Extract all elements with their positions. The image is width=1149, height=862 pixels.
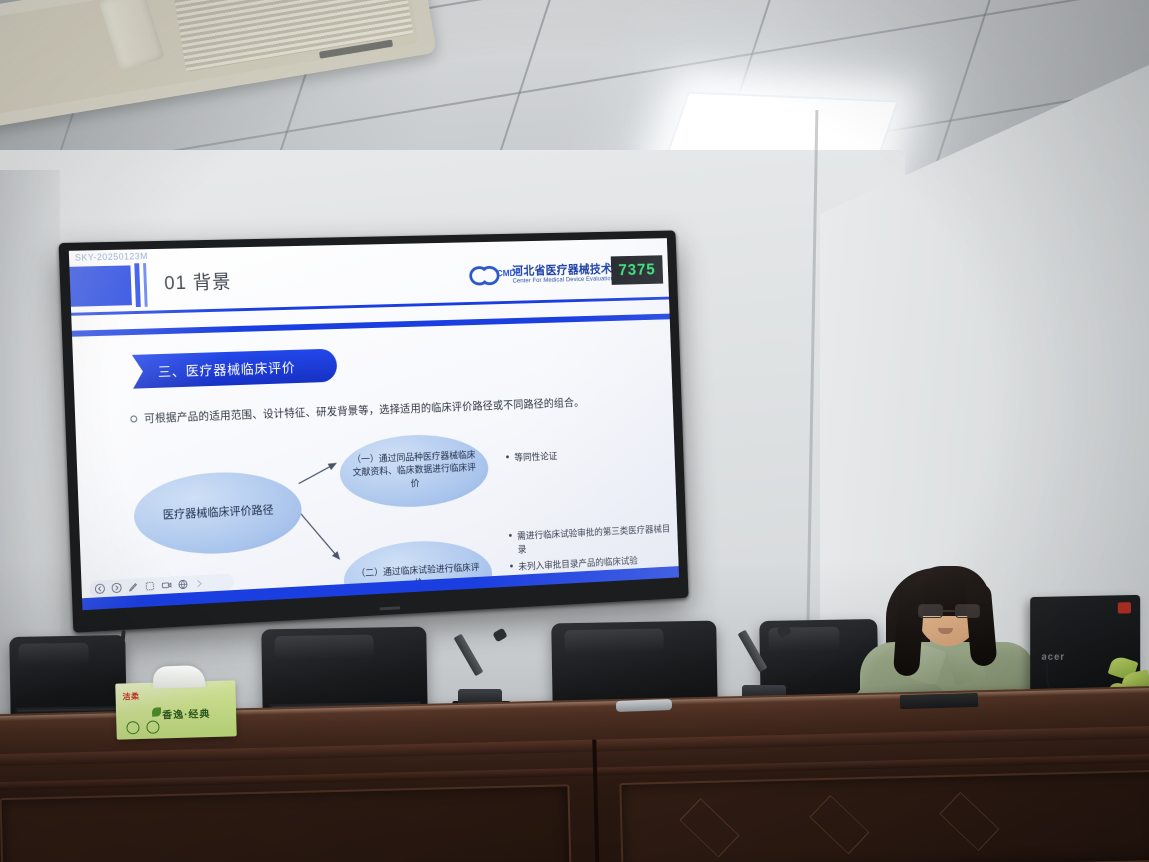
tv-bezel: SKY-20250123M 01 背景 CMDE 河北省医疗器械技术审评中心 bbox=[59, 230, 689, 632]
zoom-slide-icon[interactable] bbox=[161, 580, 172, 591]
previous-slide-icon[interactable] bbox=[94, 583, 105, 595]
section-banner-label: 三、医疗器械临床评价 bbox=[157, 357, 295, 381]
diagram-node-path2: （二）通过临床试验进行临床评价 bbox=[343, 538, 494, 610]
eyeglasses-icon bbox=[918, 604, 980, 620]
tissue-sheet bbox=[153, 665, 206, 688]
tv-screen[interactable]: SKY-20250123M 01 背景 CMDE 河北省医疗器械技术审评中心 bbox=[69, 238, 679, 610]
remote-control[interactable] bbox=[616, 699, 672, 712]
all-slides-icon[interactable] bbox=[177, 579, 188, 590]
powerpoint-slide[interactable]: SKY-20250123M 01 背景 CMDE 河北省医疗器械技术审评中心 bbox=[69, 238, 679, 610]
more-options-icon[interactable] bbox=[194, 578, 205, 589]
header-rule-thin bbox=[71, 297, 669, 316]
pen-icon[interactable] bbox=[128, 581, 139, 592]
tissue-box[interactable]: 洁柔 香逸·经典 bbox=[115, 680, 237, 739]
slide-header-title: 01 背景 bbox=[164, 267, 232, 295]
note-bullet-icon bbox=[506, 455, 509, 458]
overlay-counter-value: 7375 bbox=[618, 260, 656, 280]
slide-watermark: SKY-20250123M bbox=[75, 251, 148, 263]
tissue-product-label: 香逸·经典 bbox=[162, 705, 211, 721]
main-bullet: 可根据产品的适用范围、设计特征、研发背景等，选择适用的临床评价路径或不同路径的组… bbox=[130, 393, 638, 428]
header-blue-block bbox=[69, 265, 132, 306]
diagram-node-path1: （一）通过同品种医疗器械临床文献资料、临床数据进行临床评价 bbox=[339, 432, 490, 510]
chair[interactable] bbox=[9, 635, 126, 723]
tissue-brand-label: 洁柔 bbox=[122, 691, 139, 702]
tv-brand-mark bbox=[380, 606, 401, 610]
conference-microphone[interactable] bbox=[458, 628, 528, 706]
note-bullet-icon bbox=[510, 564, 513, 567]
header-accent-bar-2 bbox=[143, 263, 148, 307]
section-banner: 三、医疗器械临床评价 bbox=[132, 349, 338, 389]
room-photo-scene: SKY-20250123M 01 背景 CMDE 河北省医疗器械技术审评中心 bbox=[0, 0, 1149, 862]
diagram-node-root-label: 医疗器械临床评价路径 bbox=[163, 502, 274, 523]
next-slide-icon[interactable] bbox=[111, 582, 122, 594]
diagram-node-root: 医疗器械临床评价路径 bbox=[133, 469, 304, 558]
bullet-circle-icon bbox=[130, 415, 137, 422]
wall-mounted-display[interactable]: SKY-20250123M 01 背景 CMDE 河北省医疗器械技术审评中心 bbox=[59, 230, 689, 632]
overlay-counter-badge: 7375 bbox=[611, 255, 663, 285]
main-bullet-text: 可根据产品的适用范围、设计特征、研发背景等，选择适用的临床评价路径或不同路径的组… bbox=[144, 395, 585, 427]
laptop-sticker bbox=[1118, 602, 1131, 613]
note-equivalence-label: 等同性论证 bbox=[514, 449, 557, 464]
header-rule-thick bbox=[72, 314, 670, 337]
cmde-logo-letter: CMDE bbox=[497, 268, 521, 278]
list-item: 需进行临床试验审批的第三类医疗器械目录 bbox=[509, 521, 678, 556]
conference-microphone[interactable] bbox=[742, 624, 812, 702]
note-equivalence: 等同性论证 bbox=[506, 449, 558, 465]
header-accent-bar-1 bbox=[134, 263, 141, 307]
diagram-node-path1-label: （一）通过同品种医疗器械临床文献资料、临床数据进行临床评价 bbox=[348, 449, 481, 494]
document-on-table[interactable] bbox=[900, 693, 978, 709]
note-trial-item-1: 需进行临床试验审批的第三类医疗器械目录 bbox=[517, 521, 678, 556]
ink-eraser-icon[interactable] bbox=[144, 580, 155, 591]
note-bullet-icon bbox=[509, 534, 512, 537]
cmde-logo-icon: CMDE bbox=[469, 265, 508, 287]
